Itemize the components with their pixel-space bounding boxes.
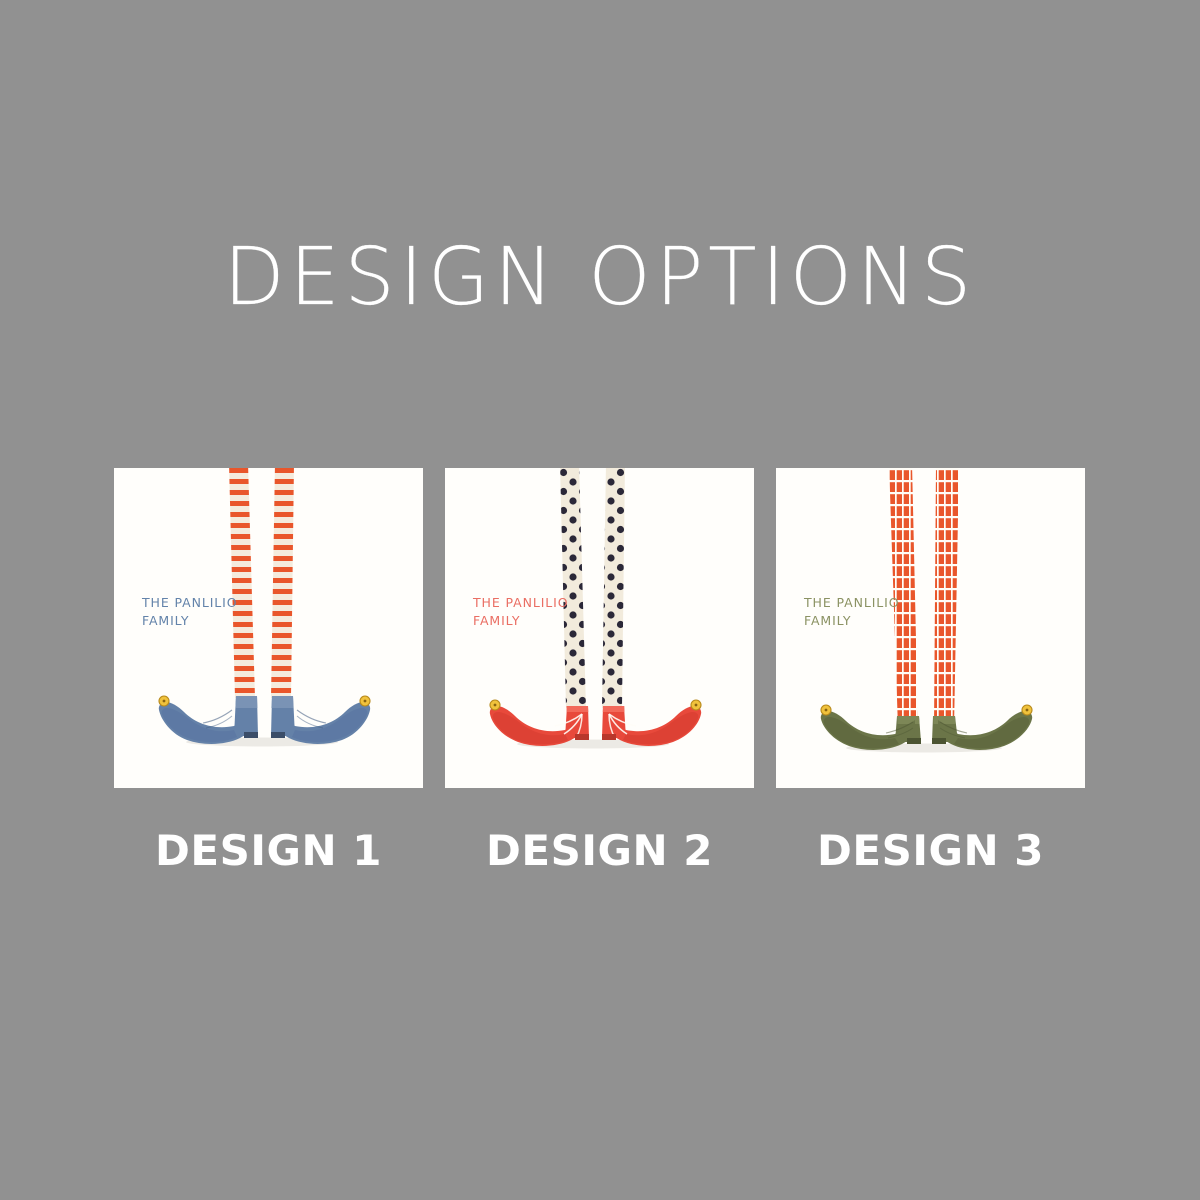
design-card-3[interactable]: THE PANLILIO FAMILY <box>776 468 1085 788</box>
design-card-1[interactable]: THE PANLILIO FAMILY <box>114 468 423 788</box>
design-card-2[interactable]: THE PANLILIO FAMILY <box>445 468 754 788</box>
page-title: DESIGN OPTIONS <box>0 238 1200 317</box>
design-label-row: DESIGN 1 DESIGN 2 DESIGN 3 <box>114 828 1086 890</box>
right-shoe-1 <box>271 696 370 744</box>
family-name-1: THE PANLILIO FAMILY <box>142 594 238 630</box>
design-label-2: DESIGN 2 <box>445 828 754 890</box>
design-options-page: DESIGN OPTIONS <box>0 0 1200 1200</box>
right-shoe-2 <box>602 700 701 746</box>
left-shoe-1 <box>159 696 258 744</box>
left-shoe-2 <box>490 700 589 746</box>
family-name-3: THE PANLILIO FAMILY <box>804 594 900 630</box>
design-card-row: THE PANLILIO FAMILY <box>114 468 1086 788</box>
family-name-2: THE PANLILIO FAMILY <box>473 594 569 630</box>
design-label-3: DESIGN 3 <box>776 828 1085 890</box>
design-label-1: DESIGN 1 <box>114 828 423 890</box>
